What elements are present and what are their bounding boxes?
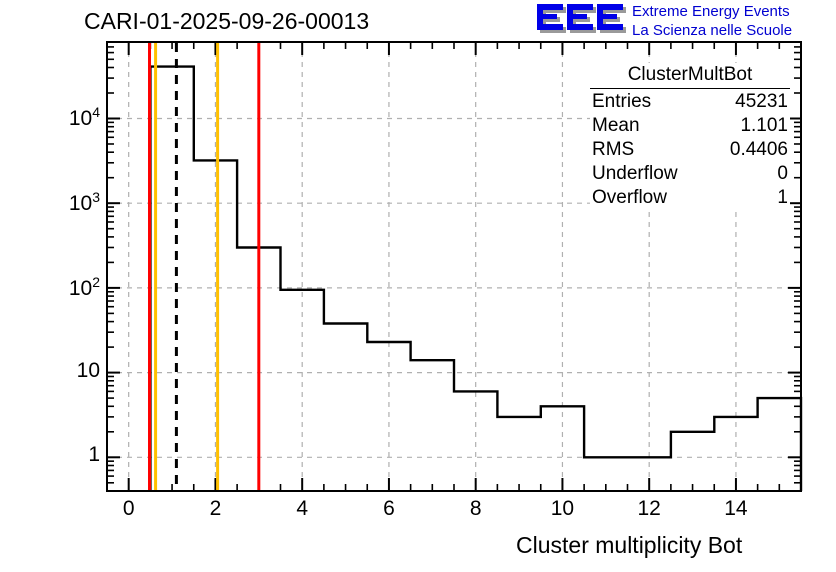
x-axis-title: Cluster multiplicity Bot: [516, 531, 742, 559]
stats-row: Overflow1: [590, 186, 790, 210]
stats-row-value: 1: [777, 186, 788, 210]
x-axis-tick-label: 4: [282, 497, 322, 520]
stats-row: Underflow0: [590, 162, 790, 186]
stats-row-value: 1.101: [740, 114, 788, 138]
stats-row-value: 45231: [735, 90, 788, 114]
stats-row: Entries45231: [590, 90, 790, 114]
histogram-canvas: CARI-01-2025-09-26-00013: [0, 0, 836, 572]
stats-row-key: Underflow: [592, 162, 678, 186]
x-axis-tick-label: 0: [109, 497, 149, 520]
stats-row-key: Overflow: [592, 186, 667, 210]
x-axis-tick-label: 12: [629, 497, 669, 520]
stats-row: RMS0.4406: [590, 138, 790, 162]
stats-row-key: Mean: [592, 114, 640, 138]
x-axis-tick-label: 8: [456, 497, 496, 520]
x-axis-tick-label: 10: [542, 497, 582, 520]
stats-box: ClusterMultBot Entries45231Mean1.101RMS0…: [590, 63, 790, 210]
stats-row-key: RMS: [592, 138, 634, 162]
x-axis-tick-label: 6: [369, 497, 409, 520]
stats-row-value: 0.4406: [730, 138, 788, 162]
x-axis-tick-label: 14: [716, 497, 756, 520]
stats-box-rows: Entries45231Mean1.101RMS0.4406Underflow0…: [590, 90, 790, 210]
stats-row: Mean1.101: [590, 114, 790, 138]
x-axis-tick-label: 2: [195, 497, 235, 520]
stats-box-title: ClusterMultBot: [590, 63, 790, 89]
stats-row-key: Entries: [592, 90, 651, 114]
stats-row-value: 0: [777, 162, 788, 186]
